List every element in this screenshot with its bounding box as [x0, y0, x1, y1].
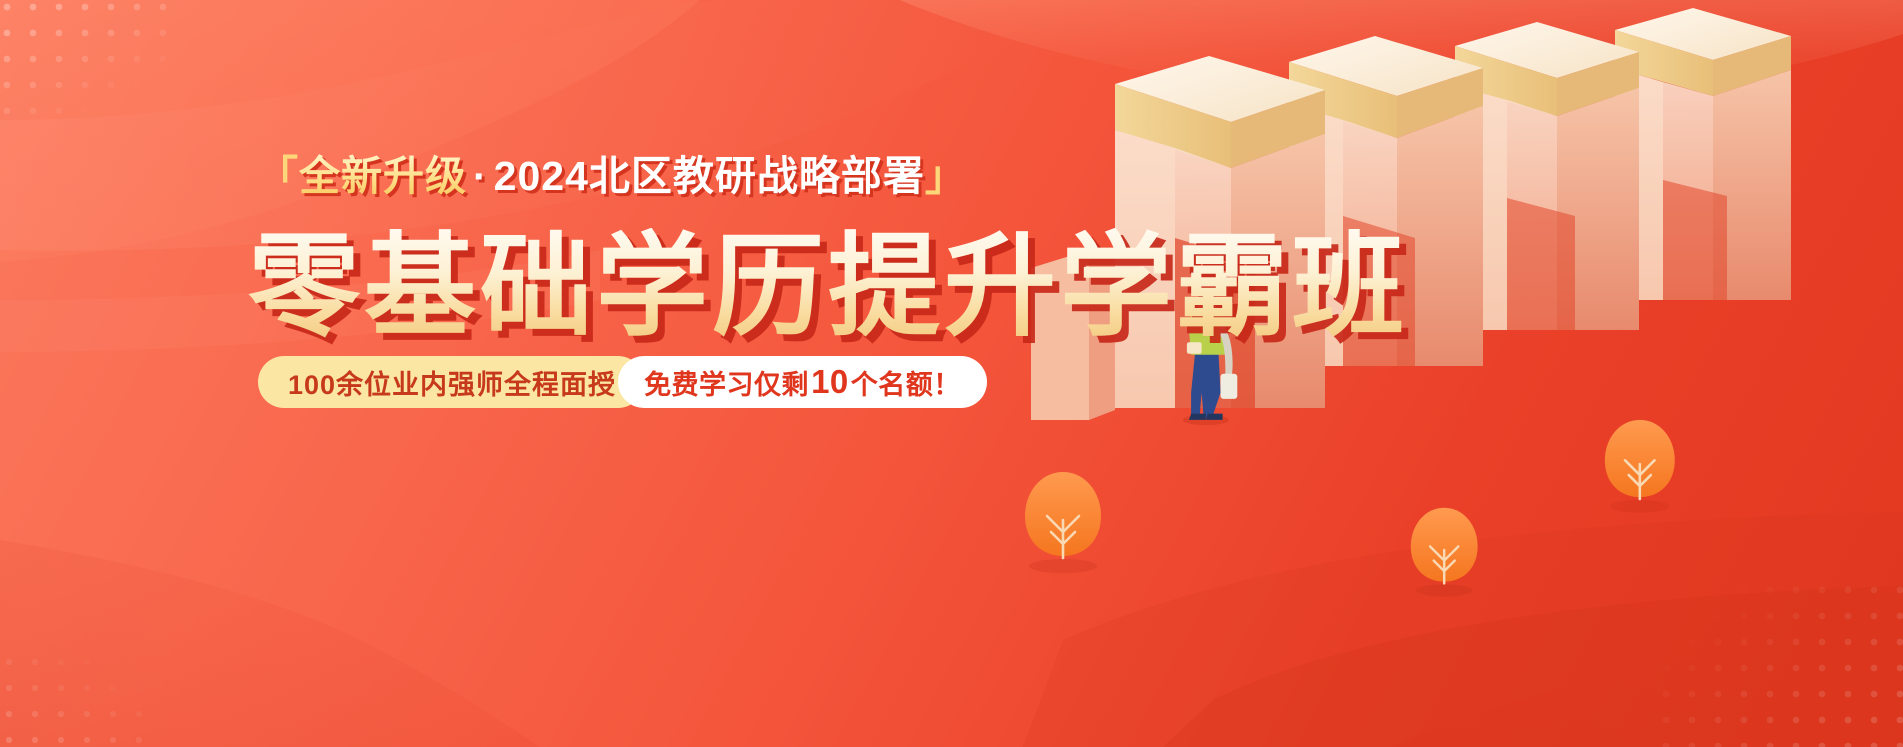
subtitle-separator: · — [467, 153, 494, 199]
banner-subtitle: 「全新升级·2024北区教研战略部署」 — [257, 156, 967, 197]
tree-right — [1605, 420, 1675, 513]
illustration-svg — [1003, 0, 1903, 747]
illustration-book-arches — [1003, 0, 1903, 747]
banner-copy: 「全新升级·2024北区教研战略部署」 零基础学历提升学霸班 100余位业内强师… — [0, 0, 1100, 747]
pill-seats: 免费学习仅剩10个名额！ — [618, 356, 987, 408]
banner-title: 零基础学历提升学霸班 — [248, 228, 1408, 346]
pill-teachers: 100余位业内强师全程面授 — [258, 356, 644, 408]
book-arch-4 — [1615, 8, 1791, 300]
figure-bag — [1221, 374, 1238, 399]
bracket-open: 「 — [257, 153, 299, 199]
pill-seats-exclaim: ！ — [933, 363, 961, 402]
pill-seats-prefix: 免费学习仅剩 — [644, 363, 809, 402]
promo-banner: 「全新升级·2024北区教研战略部署」 零基础学历提升学霸班 100余位业内强师… — [0, 0, 1903, 747]
banner-pill-row: 100余位业内强师全程面授 免费学习仅剩10个名额！ — [258, 356, 987, 408]
pill-seats-suffix: 个名额 — [851, 363, 934, 402]
subtitle-highlight: 全新升级 — [299, 153, 467, 199]
pill-seats-count: 10 — [809, 363, 851, 401]
subtitle-rest: 2024北区教研战略部署 — [494, 153, 925, 199]
pill-teachers-label: 100余位业内强师全程面授 — [288, 363, 616, 402]
bracket-close: 」 — [925, 153, 967, 199]
